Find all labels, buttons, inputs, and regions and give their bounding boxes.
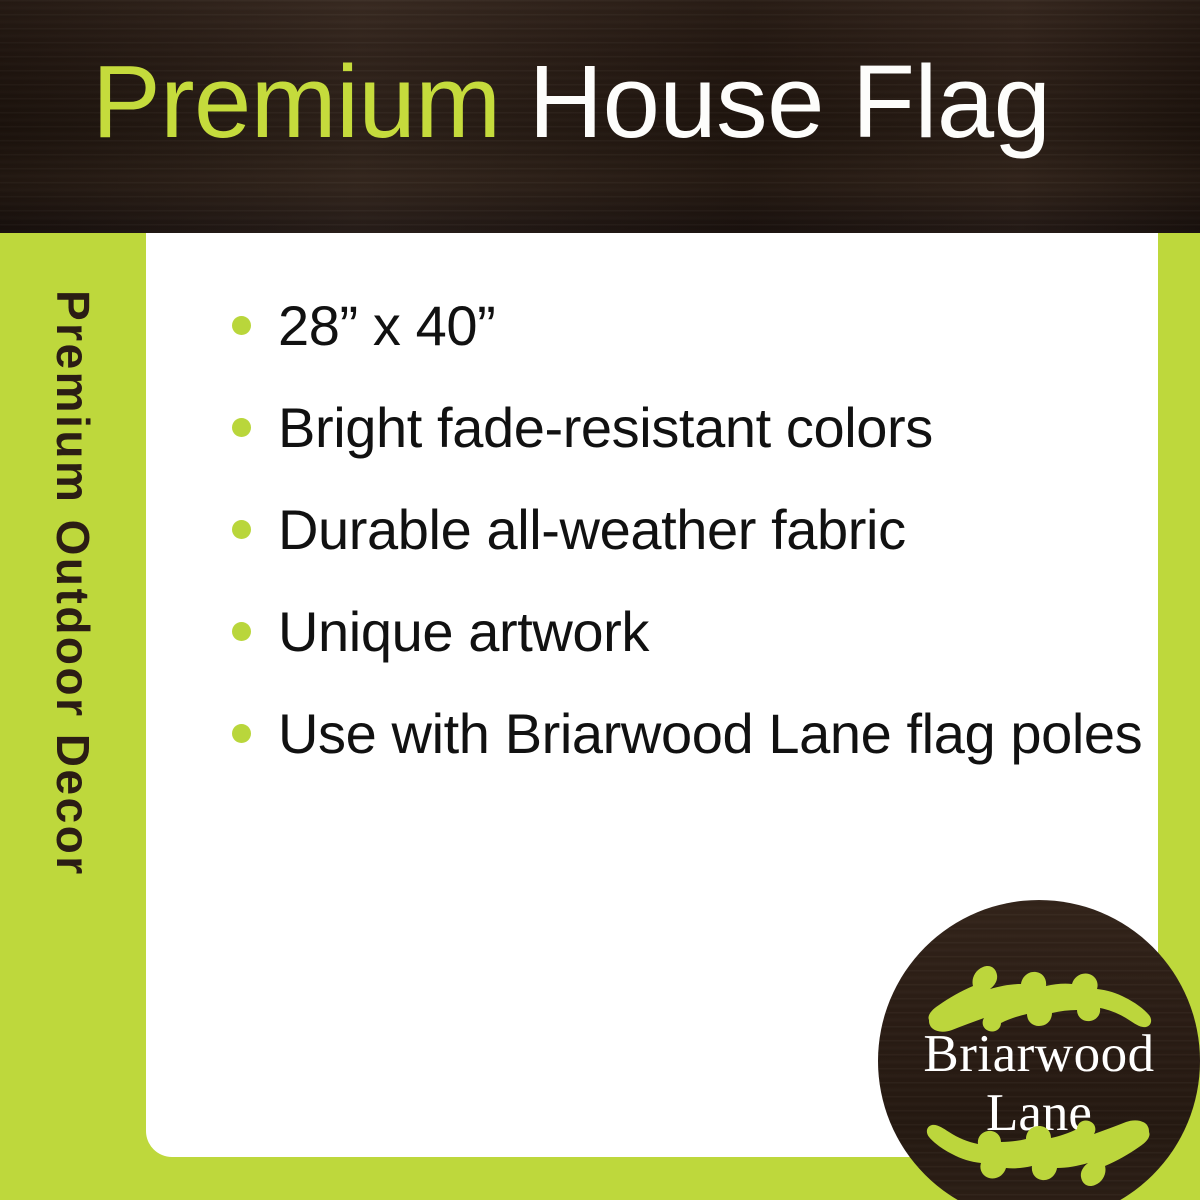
feature-text: Bright fade-resistant colors xyxy=(278,396,933,459)
list-item: Use with Briarwood Lane flag poles xyxy=(146,699,1158,771)
list-item: Bright fade-resistant colors xyxy=(146,393,1158,465)
oak-leaf-icon xyxy=(921,1118,1157,1192)
title-accent-word: Premium xyxy=(92,44,501,159)
header-wood-banner: Premium House Flag xyxy=(0,0,1200,233)
title-plain-words: House Flag xyxy=(501,44,1051,159)
feature-text: 28” x 40” xyxy=(278,294,495,357)
bullet-dot-icon xyxy=(232,418,251,437)
bullet-dot-icon xyxy=(232,316,251,335)
brand-name-line1: Briarwood xyxy=(878,1028,1200,1081)
sidebar-vertical-label: Premium Outdoor Decor xyxy=(46,290,100,877)
feature-text: Use with Briarwood Lane flag poles xyxy=(278,702,1142,765)
list-item: 28” x 40” xyxy=(146,291,1158,363)
list-item: Durable all-weather fabric xyxy=(146,495,1158,567)
bullet-dot-icon xyxy=(232,520,251,539)
bullet-dot-icon xyxy=(232,724,251,743)
page-title: Premium House Flag xyxy=(92,50,1050,153)
feature-text: Durable all-weather fabric xyxy=(278,498,906,561)
bullet-dot-icon xyxy=(232,622,251,641)
oak-leaf-icon xyxy=(921,960,1157,1034)
feature-text: Unique artwork xyxy=(278,600,649,663)
sidebar-green-strip: Premium Outdoor Decor xyxy=(0,233,146,1200)
feature-list: 28” x 40” Bright fade-resistant colors D… xyxy=(146,233,1158,801)
product-infographic: Premium House Flag Premium Outdoor Decor… xyxy=(0,0,1200,1200)
list-item: Unique artwork xyxy=(146,597,1158,669)
